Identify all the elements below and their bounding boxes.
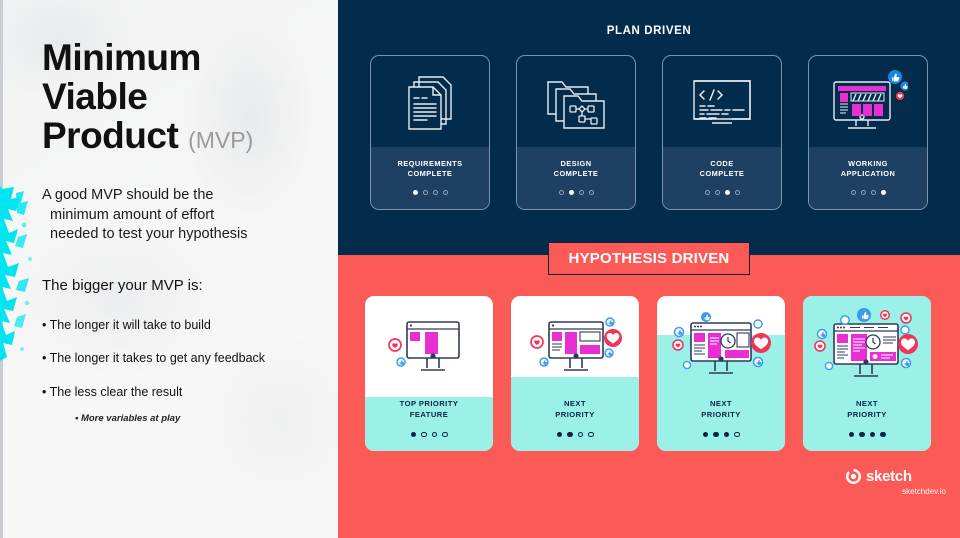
documents-stack-icon (371, 56, 489, 149)
hypothesis-card-next-priority-3[interactable]: NEXT PRIORITY (803, 296, 931, 451)
plan-card-requirements[interactable]: REQUIREMENTS COMPLETE (370, 55, 490, 210)
plan-card-footer: REQUIREMENTS COMPLETE (371, 147, 489, 209)
label-line-2: COMPLETE (700, 169, 745, 178)
hypothesis-card-label: NEXT PRIORITY (657, 399, 785, 420)
progress-dots (657, 432, 785, 438)
title-line-3: Product (MVP) (42, 116, 327, 160)
plan-card-label: DESIGN COMPLETE (517, 159, 635, 179)
wireframe-monitor-icon (511, 302, 639, 394)
label-line-1: NEXT (564, 399, 586, 408)
hypothesis-card-top-priority[interactable]: TOP PRIORITY FEATURE (365, 296, 493, 451)
progress-dots (511, 432, 639, 438)
progress-dots (365, 432, 493, 438)
plan-card-design[interactable]: DESIGN COMPLETE (516, 55, 636, 210)
progress-dots (371, 190, 489, 195)
bullet-item: • The longer it will take to build (42, 318, 211, 332)
progress-dots (809, 190, 927, 195)
sketch-logo[interactable]: sketch sketchdev.io (846, 468, 946, 496)
hypothesis-card-label: NEXT PRIORITY (511, 399, 639, 420)
plan-card-code[interactable]: CODE COMPLETE (662, 55, 782, 210)
plan-card-label: CODE COMPLETE (663, 159, 781, 179)
lead-line-2: minimum amount of effort (42, 206, 322, 226)
lead-line-3: needed to test your hypothesis (42, 225, 322, 245)
cyan-paint-splatter-decoration (0, 185, 40, 365)
bigger-mvp-heading: The bigger your MVP is: (42, 277, 203, 294)
sub-bullet-item: • More variables at play (75, 413, 180, 424)
label-line-1: NEXT (710, 399, 732, 408)
plan-driven-title: PLAN DRIVEN (338, 25, 960, 37)
sketch-ring-icon (846, 469, 861, 484)
progress-dots (803, 432, 931, 438)
label-line-1: CODE (710, 159, 733, 168)
label-line-2: PRIORITY (847, 410, 886, 419)
title-line-1: Minimum (42, 38, 327, 77)
left-panel: Minimum Viable Product (MVP) A good MVP … (0, 0, 338, 538)
lead-line-1: A good MVP should be the (42, 187, 213, 203)
lead-paragraph: A good MVP should be the minimum amount … (42, 186, 322, 245)
plan-card-working-application[interactable]: WORKING APPLICATION (808, 55, 928, 210)
label-line-2: PRIORITY (555, 410, 594, 419)
label-line-2: COMPLETE (554, 169, 599, 178)
wireframe-monitor-icon (657, 302, 785, 394)
hypothesis-card-next-priority-2[interactable]: NEXT PRIORITY (657, 296, 785, 451)
title-mvp-suffix: (MVP) (188, 127, 253, 153)
title-line-2: Viable (42, 77, 327, 116)
code-monitor-icon (663, 56, 781, 149)
wireframe-monitor-icon (365, 302, 493, 394)
label-line-1: TOP PRIORITY (400, 399, 459, 408)
title-line-3-text: Product (42, 115, 178, 156)
hypothesis-card-label: NEXT PRIORITY (803, 399, 931, 420)
label-line-1: NEXT (856, 399, 878, 408)
logo-row: sketch (846, 468, 946, 485)
hypothesis-card-next-priority-1[interactable]: NEXT PRIORITY (511, 296, 639, 451)
page-title: Minimum Viable Product (MVP) (42, 38, 327, 160)
label-line-2: COMPLETE (408, 169, 453, 178)
bullet-item: • The less clear the result (42, 385, 182, 399)
plan-card-label: WORKING APPLICATION (809, 159, 927, 179)
plan-card-footer: DESIGN COMPLETE (517, 147, 635, 209)
label-line-2: PRIORITY (701, 410, 740, 419)
label-line-2: FEATURE (410, 410, 448, 419)
progress-dots (663, 190, 781, 195)
plan-card-label: REQUIREMENTS COMPLETE (371, 159, 489, 179)
label-line-2: APPLICATION (841, 169, 896, 178)
label-line-1: REQUIREMENTS (398, 159, 463, 168)
wireframe-monitor-icon (803, 302, 931, 394)
logo-url: sketchdev.io (846, 487, 946, 496)
progress-dots (517, 190, 635, 195)
slide-root: Minimum Viable Product (MVP) A good MVP … (0, 0, 960, 538)
bullet-item: • The longer it takes to get any feedbac… (42, 351, 265, 365)
folders-diagram-icon (517, 56, 635, 149)
working-app-monitor-icon (809, 56, 927, 149)
label-line-1: WORKING (848, 159, 888, 168)
logo-wordmark: sketch (866, 468, 912, 485)
hypothesis-driven-banner: HYPOTHESIS DRIVEN (548, 242, 750, 275)
plan-card-footer: CODE COMPLETE (663, 147, 781, 209)
hypothesis-card-label: TOP PRIORITY FEATURE (365, 399, 493, 420)
label-line-1: DESIGN (560, 159, 591, 168)
plan-card-footer: WORKING APPLICATION (809, 147, 927, 209)
